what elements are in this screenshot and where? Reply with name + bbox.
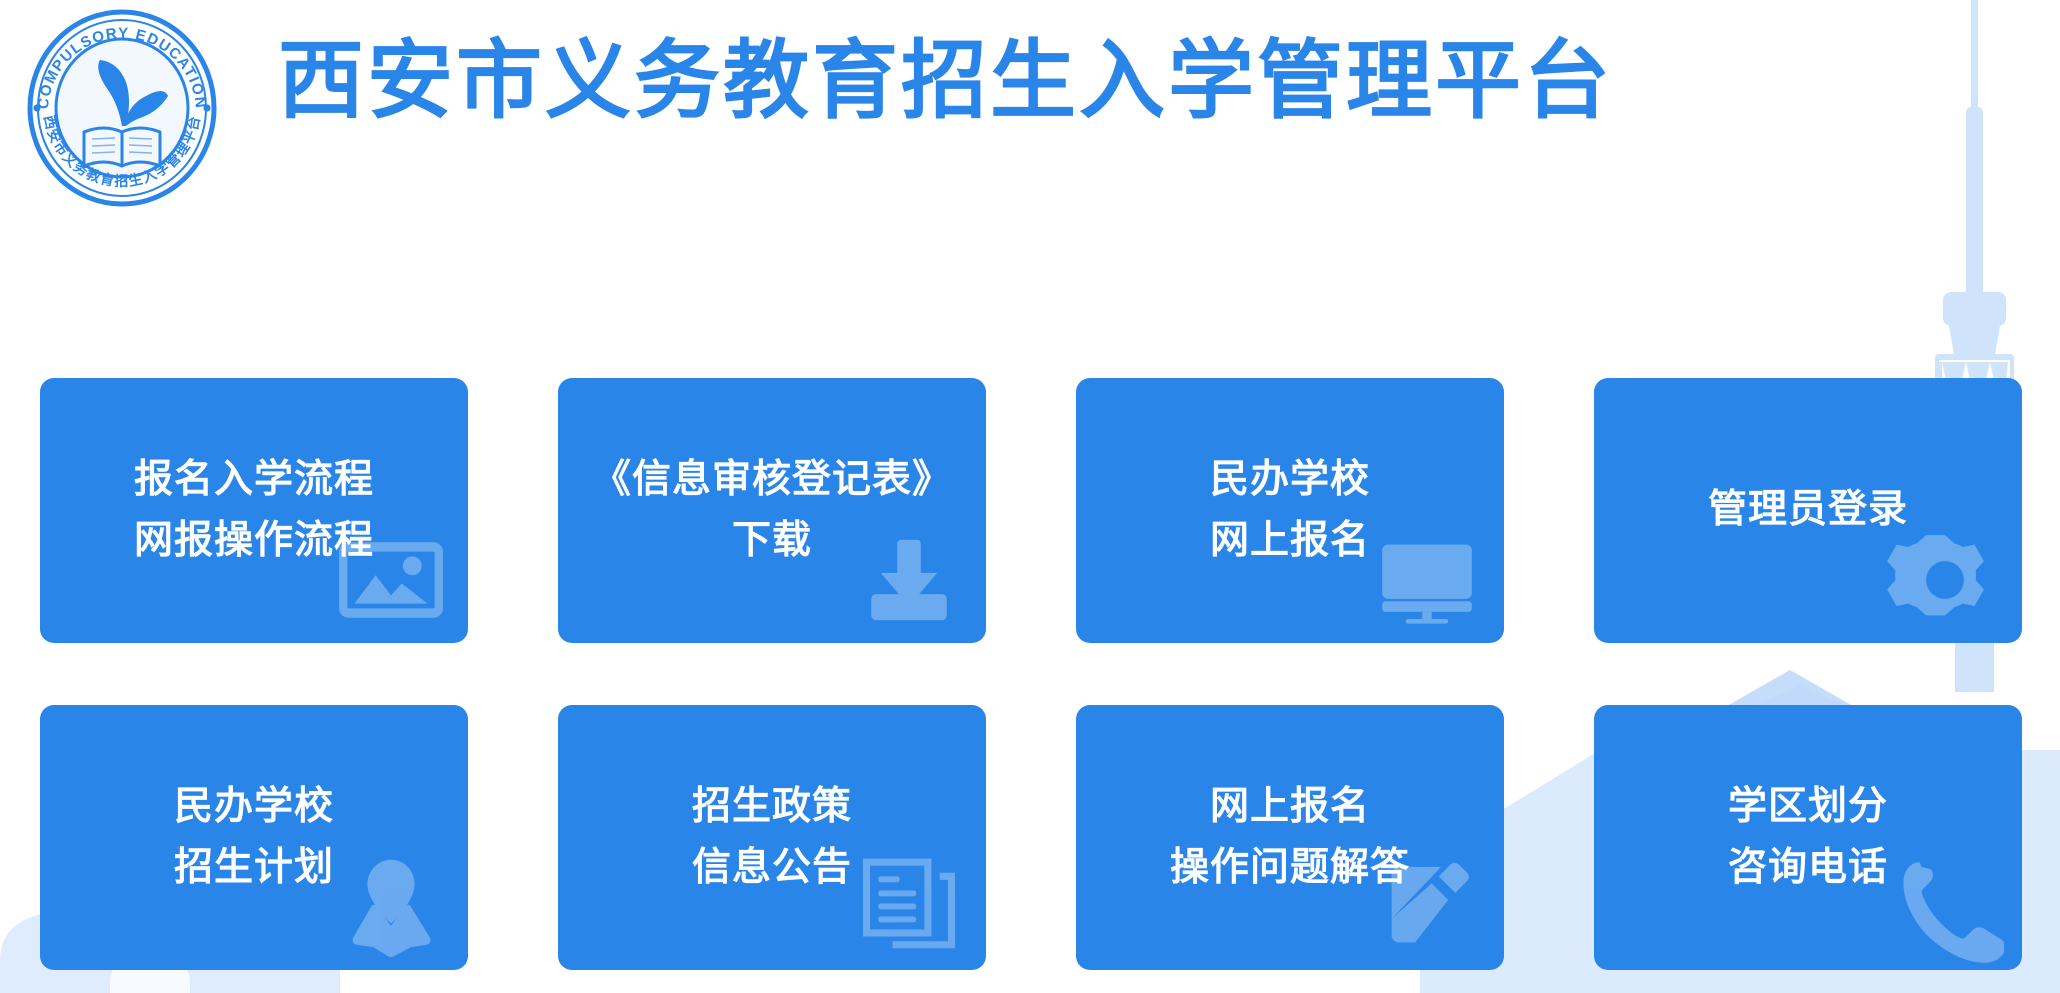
- card-line: 网上报名: [1210, 787, 1370, 828]
- card-label: 《信息审核登记表》 下载: [558, 460, 986, 562]
- card-label: 报名入学流程 网报操作流程: [40, 460, 468, 562]
- image-icon: [332, 521, 450, 639]
- card-line: 操作问题解答: [1170, 848, 1410, 889]
- card-line: 民办学校: [1210, 460, 1370, 501]
- map-pin-icon: [332, 848, 450, 966]
- card-line: 报名入学流程: [134, 460, 374, 501]
- card-line: 信息公告: [692, 848, 852, 889]
- card-line: 招生计划: [174, 848, 334, 889]
- card-policy-announcement[interactable]: 招生政策 信息公告: [558, 705, 986, 970]
- page-root: COMPULSORY EDUCATION 西安市义务教育招生入学管理平台: [0, 0, 2060, 993]
- card-line: 咨询电话: [1728, 848, 1888, 889]
- card-label: 管理员登录: [1594, 490, 2022, 531]
- edit-icon: [1368, 848, 1486, 966]
- card-label: 民办学校 网上报名: [1076, 460, 1504, 562]
- card-enrollment-process[interactable]: 报名入学流程 网报操作流程: [40, 378, 468, 643]
- documents-icon: [850, 848, 968, 966]
- card-line: 管理员登录: [1708, 490, 1908, 531]
- quick-link-card-grid: 报名入学流程 网报操作流程 《信息审核登记表》 下载: [40, 378, 2022, 970]
- card-line: 网报操作流程: [134, 521, 374, 562]
- card-label: 学区划分 咨询电话: [1594, 787, 2022, 889]
- card-label: 招生政策 信息公告: [558, 787, 986, 889]
- card-line: 学区划分: [1728, 787, 1888, 828]
- card-line: 网上报名: [1210, 521, 1370, 562]
- card-online-application-faq[interactable]: 网上报名 操作问题解答: [1076, 705, 1504, 970]
- card-form-download[interactable]: 《信息审核登记表》 下载: [558, 378, 986, 643]
- page-title: 西安市义务教育招生入学管理平台: [278, 38, 1613, 124]
- card-private-school-online-application[interactable]: 民办学校 网上报名: [1076, 378, 1504, 643]
- phone-icon: [1886, 848, 2004, 966]
- download-icon: [850, 521, 968, 639]
- monitor-icon: [1368, 521, 1486, 639]
- card-line: 民办学校: [174, 787, 334, 828]
- card-line: 下载: [732, 521, 812, 562]
- card-label: 民办学校 招生计划: [40, 787, 468, 889]
- card-label: 网上报名 操作问题解答: [1076, 787, 1504, 889]
- card-school-district-hotline[interactable]: 学区划分 咨询电话: [1594, 705, 2022, 970]
- card-line: 《信息审核登记表》: [592, 460, 952, 501]
- compulsory-education-seal-logo: COMPULSORY EDUCATION 西安市义务教育招生入学管理平台: [22, 8, 222, 208]
- gear-icon: [1886, 521, 2004, 639]
- card-line: 招生政策: [692, 787, 852, 828]
- page-header: COMPULSORY EDUCATION 西安市义务教育招生入学管理平台: [0, 0, 2060, 215]
- card-admin-login[interactable]: 管理员登录: [1594, 378, 2022, 643]
- card-private-school-plan[interactable]: 民办学校 招生计划: [40, 705, 468, 970]
